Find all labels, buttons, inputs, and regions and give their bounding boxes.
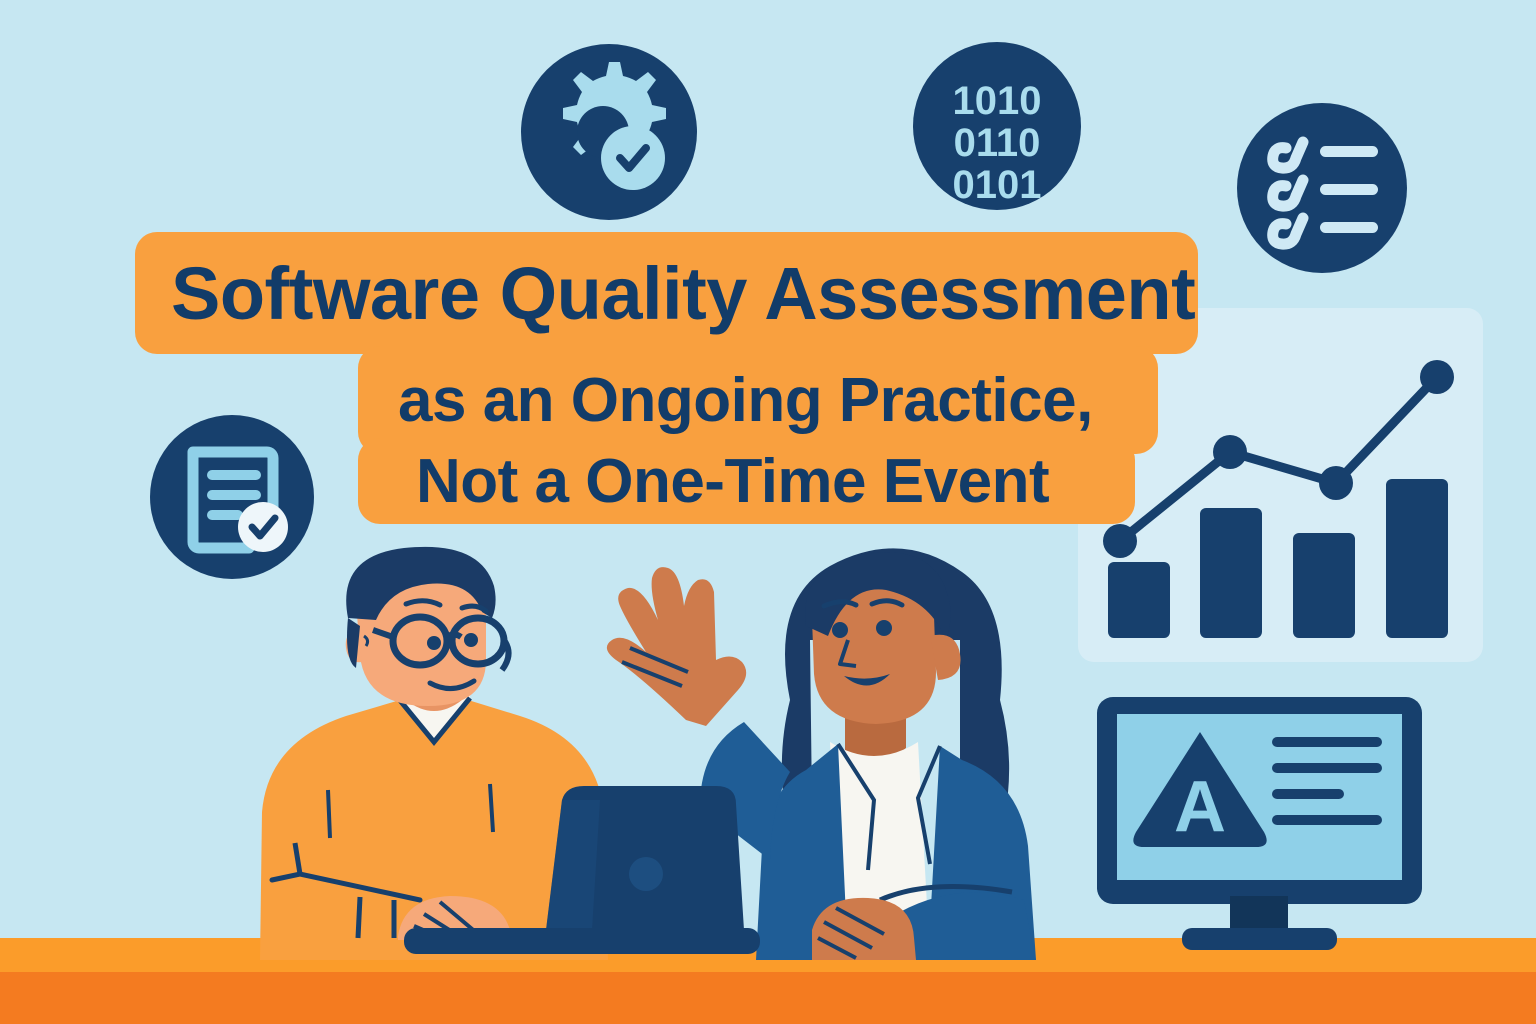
monitor-text-line-4: [1272, 815, 1382, 825]
warning-letter: A: [1174, 767, 1226, 847]
monitor-alert: A: [1097, 697, 1422, 950]
banner-canvas: A: [0, 0, 1536, 1024]
warning-triangle-icon: A: [1133, 732, 1266, 847]
laptop-device: [404, 786, 760, 954]
checklist-line-3: [1320, 222, 1378, 233]
checklist-line-2: [1320, 184, 1378, 195]
doc-line-1: [207, 470, 261, 480]
eye-right: [464, 633, 478, 647]
doc-line-3: [207, 510, 243, 520]
person-man-at-laptop: [260, 547, 608, 960]
gear-check-icon: [521, 44, 697, 220]
monitor-text-line-2: [1272, 763, 1382, 773]
desk-surface-front: [0, 972, 1536, 1024]
chart-bar-1: [1108, 562, 1170, 638]
eye-right: [876, 620, 892, 636]
doc-line-2: [207, 490, 261, 500]
document-check-icon: [150, 415, 314, 579]
title-line-3: Not a One-Time Event: [358, 438, 1135, 524]
person-woman-presenting: [607, 548, 1036, 960]
binary-code-icon: 1010 0110 0101: [913, 42, 1081, 210]
binary-row-2: 0110: [954, 121, 1041, 165]
eye-left: [832, 622, 848, 638]
binary-row-3: 0101: [953, 163, 1042, 207]
checklist-icon: [1237, 103, 1407, 273]
chart-bar-2: [1200, 508, 1262, 638]
eye-left: [427, 636, 441, 650]
chart-bar-4: [1386, 479, 1448, 638]
glasses-icon: [373, 617, 509, 670]
checklist-line-1: [1320, 146, 1378, 157]
desk-surface-top: [0, 938, 1536, 972]
title-line-1: Software Quality Assessment: [135, 232, 1198, 354]
laptop-logo-icon: [629, 857, 663, 891]
monitor-text-line-3: [1272, 789, 1344, 799]
binary-row-1: 1010: [953, 79, 1042, 123]
monitor-text-line-1: [1272, 737, 1382, 747]
chart-bar-3: [1293, 533, 1355, 638]
